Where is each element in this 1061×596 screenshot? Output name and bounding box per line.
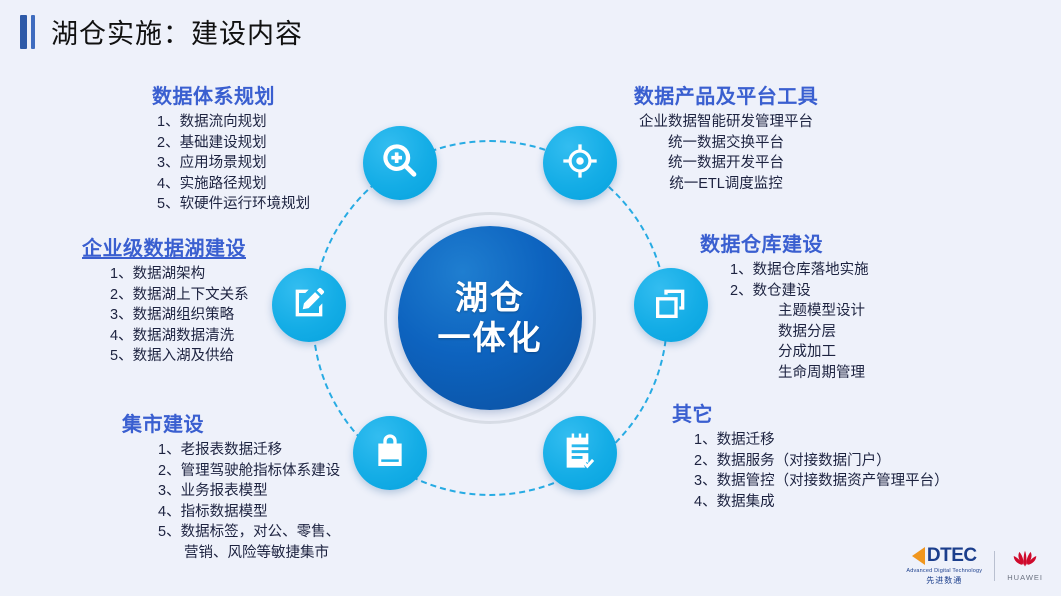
huawei-flower-icon bbox=[1010, 549, 1040, 572]
list-item: 1、数据湖架构 bbox=[110, 264, 249, 285]
block-list: 1、数据仓库落地实施 2、数仓建设 主题模型设计 数据分层 分成加工 生命周期管… bbox=[700, 260, 869, 383]
title-bar-thin bbox=[31, 15, 35, 49]
huawei-wordmark: HUAWEI bbox=[1007, 573, 1043, 582]
list-item: 统一数据交换平台 bbox=[596, 133, 856, 154]
huawei-logo: HUAWEI bbox=[1007, 549, 1043, 583]
page-title: 湖仓实施：建设内容 bbox=[20, 12, 303, 51]
dtec-tagline: Advanced Digital Technology bbox=[906, 568, 982, 574]
block-heading: 集市建设 bbox=[122, 408, 340, 437]
center-line-1: 湖仓 bbox=[455, 278, 525, 318]
list-item: 统一ETL调度监控 bbox=[596, 174, 856, 195]
logo-divider bbox=[994, 551, 995, 581]
block-heading: 企业级数据湖建设 bbox=[82, 232, 249, 261]
list-item: 1、数据迁移 bbox=[694, 430, 949, 451]
zoom-in-icon-bubble[interactable] bbox=[363, 126, 437, 200]
list-item: 3、应用场景规划 bbox=[157, 153, 310, 174]
target-icon bbox=[560, 141, 600, 186]
list-item: 4、指标数据模型 bbox=[158, 502, 340, 523]
list-item: 5、数据入湖及供给 bbox=[110, 346, 249, 367]
block-list: 1、数据湖架构 2、数据湖上下文关系 3、数据湖组织策略 4、数据湖数据清洗 5… bbox=[82, 264, 249, 367]
list-sub-item: 生命周期管理 bbox=[730, 363, 869, 384]
list-item-continuation: 营销、风险等敏捷集市 bbox=[158, 543, 340, 564]
list-item: 统一数据开发平台 bbox=[596, 153, 856, 174]
block-heading: 其它 bbox=[672, 398, 949, 427]
block-data-products-platform-tools: 数据产品及平台工具 企业数据智能研发管理平台 统一数据交换平台 统一数据开发平台… bbox=[596, 80, 856, 194]
zoom-in-icon bbox=[380, 141, 420, 186]
huawei-petals-icon bbox=[1010, 549, 1040, 569]
list-sub-item: 分成加工 bbox=[730, 342, 869, 363]
dtec-chinese-name: 先进数通 bbox=[926, 575, 962, 586]
list-item: 1、数据仓库落地实施 bbox=[730, 260, 869, 281]
list-item: 2、数据服务（对接数据门户） bbox=[694, 451, 949, 472]
block-data-system-planning: 数据体系规划 1、数据流向规划 2、基础建设规划 3、应用场景规划 4、实施路径… bbox=[112, 80, 310, 215]
list-item: 3、业务报表模型 bbox=[158, 481, 340, 502]
block-list: 1、数据流向规划 2、基础建设规划 3、应用场景规划 4、实施路径规划 5、软硬… bbox=[112, 112, 310, 215]
block-data-mart: 集市建设 1、老报表数据迁移 2、管理驾驶舱指标体系建设 3、业务报表模型 4、… bbox=[122, 408, 340, 563]
slide-root: 湖仓实施：建设内容 湖仓 一体化 bbox=[0, 0, 1061, 596]
shopping-bag-icon bbox=[370, 431, 410, 476]
block-enterprise-data-lake: 企业级数据湖建设 1、数据湖架构 2、数据湖上下文关系 3、数据湖组织策略 4、… bbox=[82, 232, 249, 367]
block-list: 1、老报表数据迁移 2、管理驾驶舱指标体系建设 3、业务报表模型 4、指标数据模… bbox=[122, 440, 340, 563]
list-sub-item: 主题模型设计 bbox=[730, 301, 869, 322]
center-line-2: 一体化 bbox=[438, 318, 543, 358]
block-heading: 数据产品及平台工具 bbox=[596, 80, 856, 109]
edit-pencil-icon-bubble[interactable] bbox=[272, 268, 346, 342]
list-sub-item: 数据分层 bbox=[730, 322, 869, 343]
edit-pencil-icon bbox=[289, 283, 329, 328]
list-item: 4、数据湖数据清洗 bbox=[110, 326, 249, 347]
block-others: 其它 1、数据迁移 2、数据服务（对接数据门户） 3、数据管控（对接数据资产管理… bbox=[672, 398, 949, 512]
list-item: 5、软硬件运行环境规划 bbox=[157, 194, 310, 215]
checklist-notepad-icon-bubble[interactable] bbox=[543, 416, 617, 490]
list-item: 2、管理驾驶舱指标体系建设 bbox=[158, 461, 340, 482]
title-text: 湖仓实施：建设内容 bbox=[51, 12, 303, 51]
list-item: 5、数据标签，对公、零售、 bbox=[158, 522, 340, 543]
center-circle: 湖仓 一体化 bbox=[398, 226, 582, 410]
list-item: 企业数据智能研发管理平台 bbox=[596, 112, 856, 133]
list-item: 3、数据湖组织策略 bbox=[110, 305, 249, 326]
list-item: 4、数据集成 bbox=[694, 492, 949, 513]
copy-layers-icon-bubble[interactable] bbox=[634, 268, 708, 342]
checklist-notepad-icon bbox=[560, 431, 600, 476]
list-item: 1、老报表数据迁移 bbox=[158, 440, 340, 461]
shopping-bag-icon-bubble[interactable] bbox=[353, 416, 427, 490]
block-heading: 数据仓库建设 bbox=[700, 228, 869, 257]
list-item: 3、数据管控（对接数据资产管理平台） bbox=[694, 471, 949, 492]
dtec-arrow-icon bbox=[912, 547, 925, 565]
block-list: 1、数据迁移 2、数据服务（对接数据门户） 3、数据管控（对接数据资产管理平台）… bbox=[672, 430, 949, 512]
list-item: 2、数据湖上下文关系 bbox=[110, 285, 249, 306]
title-marker-bars bbox=[20, 14, 35, 50]
dtec-logo: DTEC Advanced Digital Technology 先进数通 bbox=[906, 545, 982, 586]
list-item: 2、基础建设规划 bbox=[157, 133, 310, 154]
title-bar-thick bbox=[20, 15, 27, 49]
dtec-logo-mark: DTEC bbox=[912, 545, 977, 567]
footer-logos: DTEC Advanced Digital Technology 先进数通 HU… bbox=[906, 545, 1043, 586]
block-data-warehouse: 数据仓库建设 1、数据仓库落地实施 2、数仓建设 主题模型设计 数据分层 分成加… bbox=[700, 228, 869, 383]
block-list: 企业数据智能研发管理平台 统一数据交换平台 统一数据开发平台 统一ETL调度监控 bbox=[596, 112, 856, 194]
list-item: 1、数据流向规划 bbox=[157, 112, 310, 133]
dtec-wordmark: DTEC bbox=[927, 545, 977, 567]
block-heading: 数据体系规划 bbox=[112, 80, 310, 109]
list-item: 2、数仓建设 bbox=[730, 281, 869, 302]
copy-layers-icon bbox=[651, 283, 691, 328]
list-item: 4、实施路径规划 bbox=[157, 174, 310, 195]
